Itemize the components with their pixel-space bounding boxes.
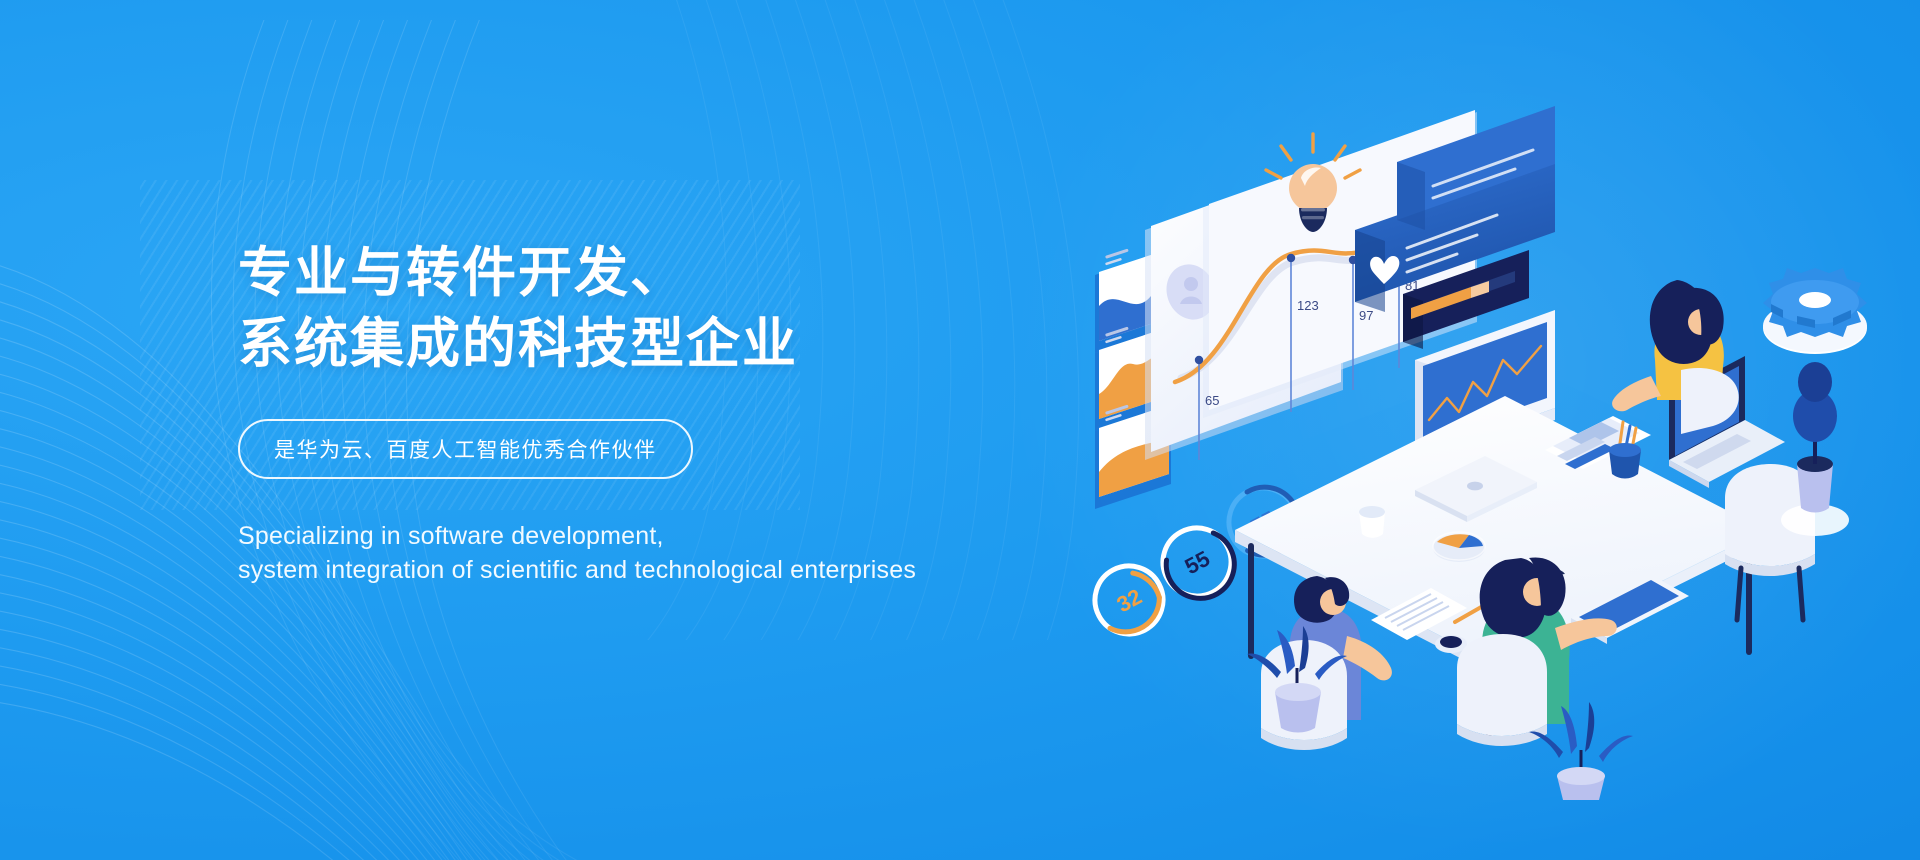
page-title: 专业与转件开发、 系统集成的科技型企业 (238, 238, 1098, 381)
partner-badge[interactable]: 是华为云、百度人工智能优秀合作伙伴 (238, 419, 693, 479)
subtitle-line-1: Specializing in software development, (238, 519, 1098, 554)
pie-chart-icon (1433, 532, 1485, 562)
chair-right (1457, 634, 1547, 736)
chart-label-3: 97 (1359, 308, 1373, 323)
dish-icon (1435, 635, 1467, 653)
chart-label-2: 123 (1297, 298, 1319, 313)
hero-illustration: 65 123 97 81 (1085, 60, 1905, 800)
gear-icon (1763, 268, 1867, 354)
gauge-55-value: 55 (1181, 546, 1214, 580)
hero-copy: 专业与转件开发、 系统集成的科技型企业 是华为云、百度人工智能优秀合作伙伴 Sp… (238, 238, 1098, 613)
hero-subtitle: Specializing in software development, sy… (238, 519, 1098, 588)
headline-line-1: 专业与转件开发、 (238, 238, 1098, 309)
gauge-32-value: 32 (1113, 584, 1146, 618)
topiary-plant-icon (1781, 362, 1849, 536)
hero-banner: 专业与转件开发、 系统集成的科技型企业 是华为云、百度人工智能优秀合作伙伴 Sp… (0, 0, 1920, 860)
mug-white-icon (1359, 506, 1385, 538)
chart-label-1: 65 (1205, 393, 1219, 408)
headline-line-2: 系统集成的科技型企业 (238, 309, 1098, 380)
subtitle-line-2: system integration of scientific and tec… (238, 553, 1098, 588)
